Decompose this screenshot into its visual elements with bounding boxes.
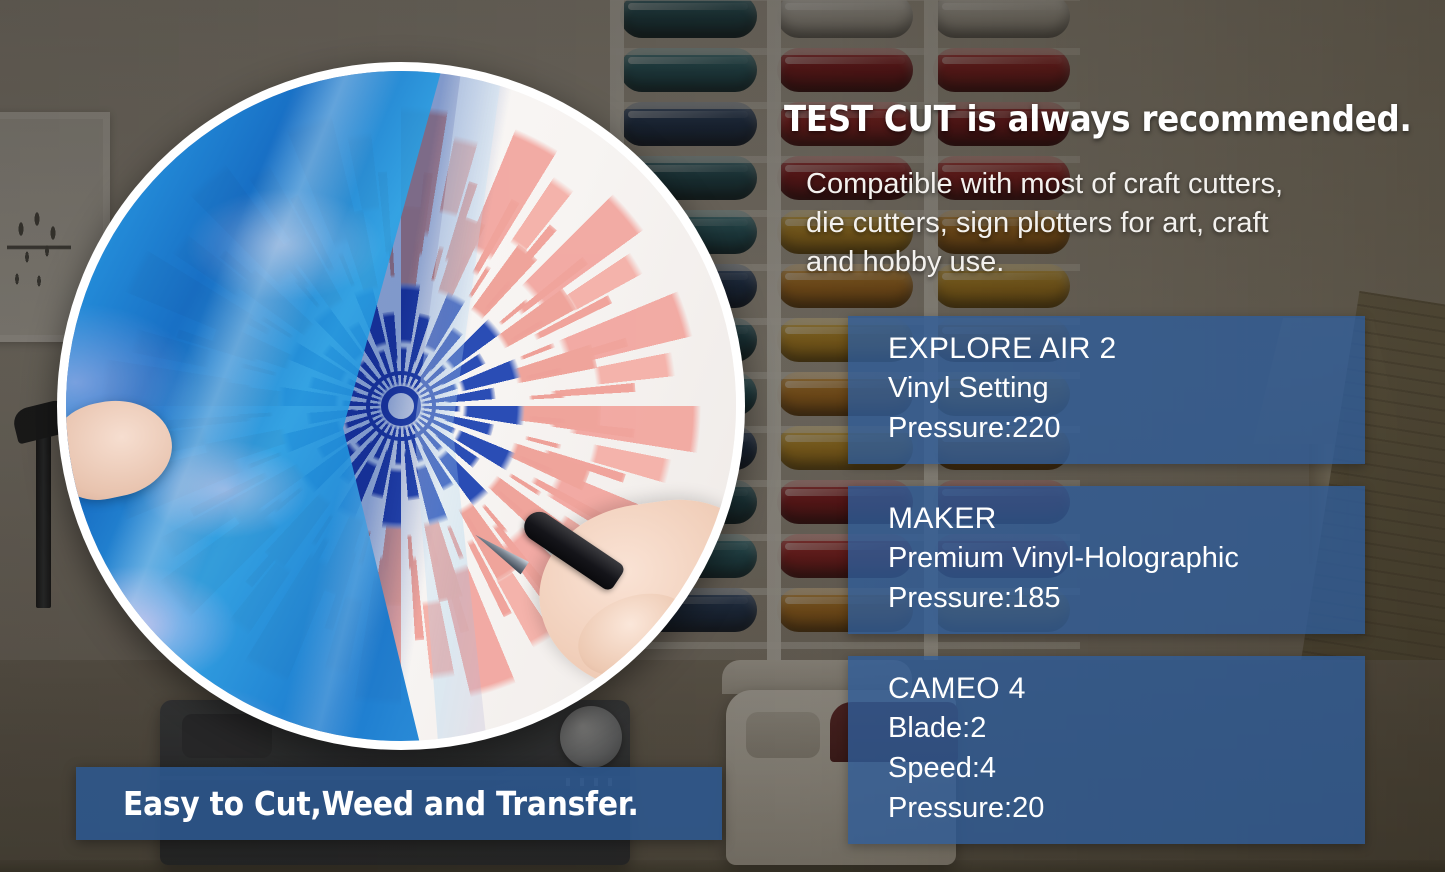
subtitle-line-1: Compatible with most of craft cutters, — [806, 165, 1426, 204]
feature-banner: Easy to Cut,Weed and Transfer. — [76, 767, 722, 840]
card-line: Pressure:20 — [888, 788, 1365, 828]
subtitle-line-2: die cutters, sign plotters for art, craf… — [806, 204, 1426, 243]
machine-setting-card-cameo-4: CAMEO 4 Blade:2 Speed:4 Pressure:20 — [848, 656, 1365, 844]
card-line: Speed:4 — [888, 748, 1365, 788]
card-line: Premium Vinyl-Holographic — [888, 538, 1365, 578]
machine-setting-card-maker: MAKER Premium Vinyl-Holographic Pressure… — [848, 486, 1365, 634]
card-line: Blade:2 — [888, 708, 1365, 748]
circle-photo-inner — [66, 71, 736, 741]
feature-banner-text: Easy to Cut,Weed and Transfer. — [76, 784, 639, 823]
page-title: TEST CUT is always recommended. — [784, 99, 1434, 140]
bottom-white-strip — [0, 872, 1445, 894]
card-title: CAMEO 4 — [888, 670, 1365, 708]
card-line: Vinyl Setting — [888, 368, 1365, 408]
subtitle-line-3: and hobby use. — [806, 243, 1426, 282]
card-title: EXPLORE AIR 2 — [888, 330, 1365, 368]
card-line: Pressure:185 — [888, 578, 1365, 618]
card-title: MAKER — [888, 500, 1365, 538]
machine-setting-card-explore-air-2: EXPLORE AIR 2 Vinyl Setting Pressure:220 — [848, 316, 1365, 464]
subtitle-text: Compatible with most of craft cutters, d… — [806, 165, 1426, 282]
circular-product-photo — [57, 62, 745, 750]
card-line: Pressure:220 — [888, 408, 1365, 448]
product-infographic: TEST CUT is always recommended. Compatib… — [0, 0, 1445, 894]
